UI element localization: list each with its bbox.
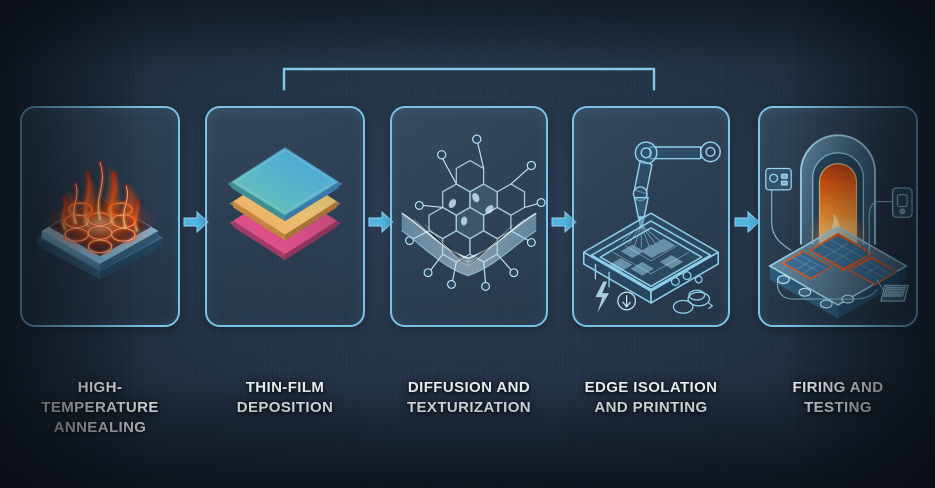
stacked-layers-icon xyxy=(207,108,363,323)
step-label-3: DIFFUSION AND TEXTURIZATION xyxy=(390,378,548,418)
step-card-2[interactable] xyxy=(205,106,365,327)
step-label-1: HIGH-TEMPERATURE ANNEALING xyxy=(20,378,180,438)
flow-arrow-4 xyxy=(733,208,761,236)
right-arrow-icon xyxy=(733,208,761,236)
step-label-5: FIRING AND TESTING xyxy=(758,378,918,418)
step-card-3[interactable] xyxy=(390,106,548,327)
page-title: MANUFACTURING PROCESS xyxy=(0,0,935,13)
infographic-stage: MANUFACTURING PROCESS xyxy=(0,0,935,488)
step-card-4[interactable] xyxy=(572,106,730,327)
step-label-1-line2: ANNEALING xyxy=(20,418,180,438)
hexagonal-lattice-icon xyxy=(392,108,546,323)
step-label-4-line1: EDGE ISOLATION xyxy=(585,379,718,396)
robotic-printer-icon xyxy=(574,108,728,323)
lightning-bolt-icon xyxy=(595,281,609,312)
step-label-4: EDGE ISOLATION AND PRINTING xyxy=(572,378,730,418)
step-label-3-line2: TEXTURIZATION xyxy=(390,398,548,418)
flaming-wafer-icon xyxy=(22,108,178,323)
step-label-2-line1: THIN-FILM xyxy=(246,379,325,396)
step-label-2: THIN-FILM DEPOSITION xyxy=(205,378,365,418)
step-label-2-line2: DEPOSITION xyxy=(205,398,365,418)
bracket-connector xyxy=(0,0,935,110)
step-label-1-line1: HIGH-TEMPERATURE xyxy=(41,379,158,416)
step-label-5-line1: FIRING AND xyxy=(793,379,884,396)
furnace-conveyor-icon xyxy=(760,108,916,323)
step-card-5[interactable] xyxy=(758,106,918,327)
step-label-3-line1: DIFFUSION AND xyxy=(408,379,530,396)
step-label-4-line2: AND PRINTING xyxy=(572,398,730,418)
step-card-1[interactable] xyxy=(20,106,180,327)
step-label-5-line2: TESTING xyxy=(758,398,918,418)
